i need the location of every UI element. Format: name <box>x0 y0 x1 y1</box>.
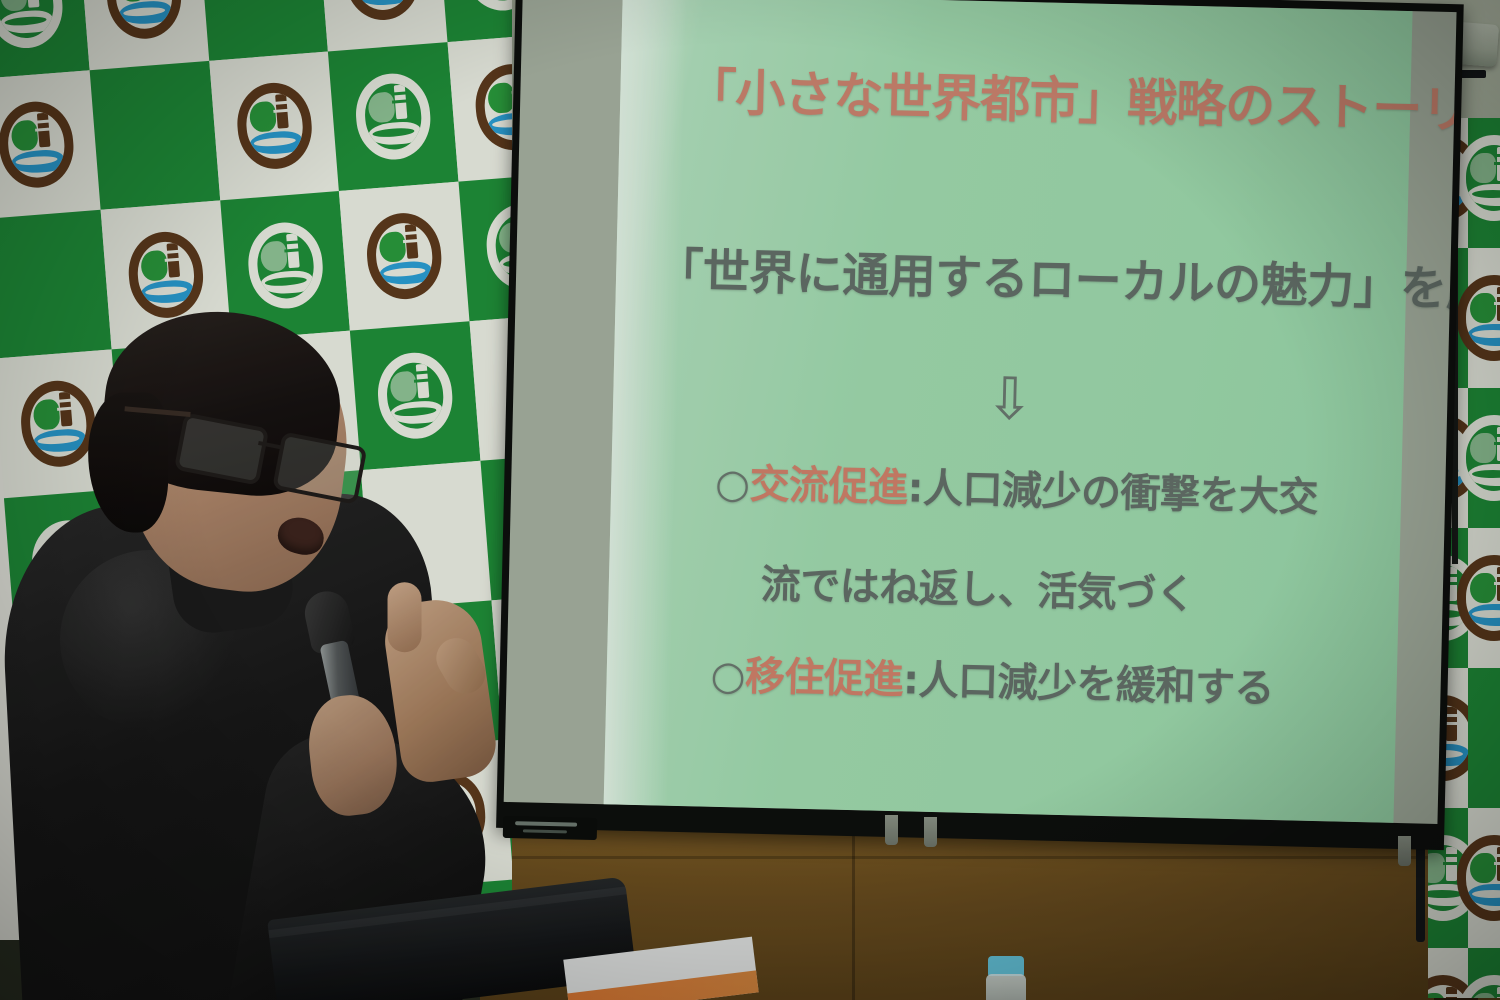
municipal-emblem-icon <box>483 201 512 293</box>
bullet-1-heading: 交流促進 <box>749 462 908 512</box>
emblem-inner <box>1466 285 1500 351</box>
slide-bullet-1: ○交流促進:人口減少の衝撃を大交 <box>715 451 1319 523</box>
backdrop-square <box>198 0 328 61</box>
emblem-hill-shape <box>140 250 168 282</box>
backdrop-square <box>1428 948 1468 998</box>
backdrop-square <box>1468 948 1500 998</box>
emblem-inner <box>1466 845 1500 911</box>
emblem-hill-shape <box>1470 153 1496 183</box>
emblem-wave-shape <box>119 0 173 26</box>
emblem-hill-shape <box>10 120 38 152</box>
slide-bullet-2: ○移住促進:人口減少を緩和する <box>710 643 1275 714</box>
emblem-inner <box>352 0 413 12</box>
emblem-tower-shape <box>1497 567 1500 601</box>
backdrop-square <box>447 33 512 182</box>
index-finger <box>388 582 422 652</box>
emblem-tower-shape <box>1497 987 1500 998</box>
emblem-inner <box>471 0 512 3</box>
emblem-wave-shape <box>249 130 303 156</box>
emblem-inner <box>482 72 512 142</box>
backdrop-square <box>1468 528 1500 668</box>
emblem-hill-shape <box>378 231 406 263</box>
bullet-1-text-line2: 流ではね返し、活気づく <box>760 552 1196 620</box>
municipal-emblem-icon <box>104 0 185 41</box>
backdrop-square <box>436 0 512 42</box>
municipal-emblem-icon <box>364 210 445 302</box>
presentation-slide: 「小さな世界都市」戦略のストーリー 「世界に通用するローカルの魅力」を磨く ⇩ … <box>604 0 1413 823</box>
municipal-emblem-icon <box>461 0 512 13</box>
emblem-tower-shape <box>26 0 40 8</box>
municipal-emblem-icon <box>0 0 65 51</box>
emblem-hill-shape <box>1470 993 1496 998</box>
screenshot-root: 「小さな世界都市」戦略のストーリー 「世界に通用するローカルの魅力」を磨く ⇩ … <box>0 0 1500 1000</box>
emblem-wave-shape <box>368 120 422 146</box>
emblem-hill-shape <box>248 101 276 133</box>
municipal-emblem-icon <box>0 99 76 191</box>
emblem-hill-shape <box>1428 853 1445 883</box>
emblem-tower-shape <box>1497 427 1500 461</box>
emblem-inner <box>244 91 305 161</box>
emblem-tower-shape <box>275 94 289 129</box>
emblem-tower-shape <box>37 113 51 148</box>
emblem-tower-shape <box>1497 147 1500 181</box>
emblem-wave-shape <box>1468 604 1500 626</box>
bullet-1-text-line1: 人口減少の衝撃を大交 <box>923 466 1319 521</box>
emblem-wave-shape <box>1468 324 1500 346</box>
emblem-tower-shape <box>1446 847 1457 881</box>
screen-stand-foot <box>1398 836 1411 866</box>
bullet-1-separator: : <box>907 465 924 511</box>
bottle-cap <box>988 956 1024 976</box>
emblem-inner <box>255 230 316 300</box>
wood-panel-seam <box>480 856 1500 859</box>
backdrop-square <box>1468 118 1500 248</box>
municipal-emblem-icon <box>234 80 315 172</box>
backdrop-row <box>1428 948 1500 998</box>
emblem-wave-shape <box>260 269 314 295</box>
emblem-tower-shape <box>286 233 300 268</box>
bullet-2-text-line1: 人口減少を緩和する <box>918 658 1274 712</box>
projector-screen-surface: 「小さな世界都市」戦略のストーリー 「世界に通用するローカルの魅力」を磨く ⇩ … <box>504 0 1457 824</box>
emblem-wave-shape <box>1468 184 1500 206</box>
backdrop-square <box>1468 248 1500 388</box>
emblem-inner <box>1466 985 1500 998</box>
emblem-tower-shape <box>1497 287 1500 321</box>
municipal-emblem-icon <box>245 220 326 312</box>
emblem-wave-shape <box>379 260 433 286</box>
municipal-emblem-icon <box>342 0 423 23</box>
slide-subtitle: 「世界に通用するローカルの魅力」を磨く <box>656 231 1457 321</box>
screen-stand-foot <box>924 817 937 847</box>
emblem-wave-shape <box>487 111 512 137</box>
emblem-tower-shape <box>394 85 408 120</box>
emblem-wave-shape <box>0 9 53 35</box>
emblem-hill-shape <box>0 0 27 12</box>
municipal-emblem-icon <box>353 71 434 163</box>
emblem-wave-shape <box>11 149 65 175</box>
slide-title: 「小さな世界都市」戦略のストーリー <box>686 52 1457 144</box>
emblem-hill-shape <box>1470 433 1496 463</box>
emblem-tower-shape <box>167 243 181 278</box>
emblem-inner <box>363 81 424 151</box>
backdrop-square <box>1468 388 1500 528</box>
emblem-tower-shape <box>1446 707 1457 741</box>
emblem-inner <box>114 0 175 31</box>
emblem-hill-shape <box>367 91 395 123</box>
backdrop-square <box>328 42 458 191</box>
screen-stand-foot <box>885 815 898 845</box>
emblem-tower-shape <box>1497 847 1500 881</box>
backdrop-square <box>79 0 209 70</box>
bullet-2-separator: : <box>903 657 920 703</box>
emblem-wave-shape <box>1468 464 1500 486</box>
bullet-marker-icon-2: ○ <box>710 653 745 700</box>
projected-image-area: 「小さな世界都市」戦略のストーリー 「世界に通用するローカルの魅力」を磨く ⇩ … <box>604 0 1413 823</box>
bullet-2-heading: 移住促進 <box>745 654 904 704</box>
emblem-hill-shape <box>1470 853 1496 883</box>
emblem-hill-shape <box>1470 573 1496 603</box>
emblem-hill-shape <box>487 82 512 114</box>
brand-plate-bar-secondary <box>523 829 567 833</box>
down-arrow-icon: ⇩ <box>985 369 1034 428</box>
backdrop-square <box>1468 808 1500 948</box>
emblem-wave-shape <box>357 0 411 7</box>
backdrop-square <box>0 0 90 80</box>
emblem-wave-shape <box>1468 884 1500 906</box>
emblem-hill-shape <box>259 240 287 272</box>
emblem-tower-shape <box>405 224 419 259</box>
bullet-marker-icon: ○ <box>715 461 750 508</box>
presenter <box>0 300 520 1000</box>
emblem-inner <box>1466 145 1500 211</box>
municipal-emblem-icon <box>472 61 512 153</box>
projector-screen-frame: 「小さな世界都市」戦略のストーリー 「世界に通用するローカルの魅力」を磨く ⇩ … <box>496 0 1464 850</box>
emblem-inner <box>374 221 435 291</box>
emblem-inner <box>0 0 56 40</box>
backdrop-square <box>0 70 101 219</box>
backdrop-square <box>1468 668 1500 808</box>
emblem-inner <box>6 110 67 180</box>
thumb <box>429 631 493 701</box>
backdrop-square <box>209 51 339 200</box>
handout-orange-band <box>567 970 758 1000</box>
emblem-hill-shape <box>1470 293 1496 323</box>
backdrop-square <box>90 61 220 210</box>
brand-plate-bar <box>515 821 577 826</box>
emblem-tower-shape <box>1446 987 1457 998</box>
bottle-body <box>986 974 1026 1000</box>
emblem-inner <box>1466 565 1500 631</box>
water-bottle[interactable] <box>980 956 1032 1000</box>
emblem-inner <box>1466 425 1500 491</box>
